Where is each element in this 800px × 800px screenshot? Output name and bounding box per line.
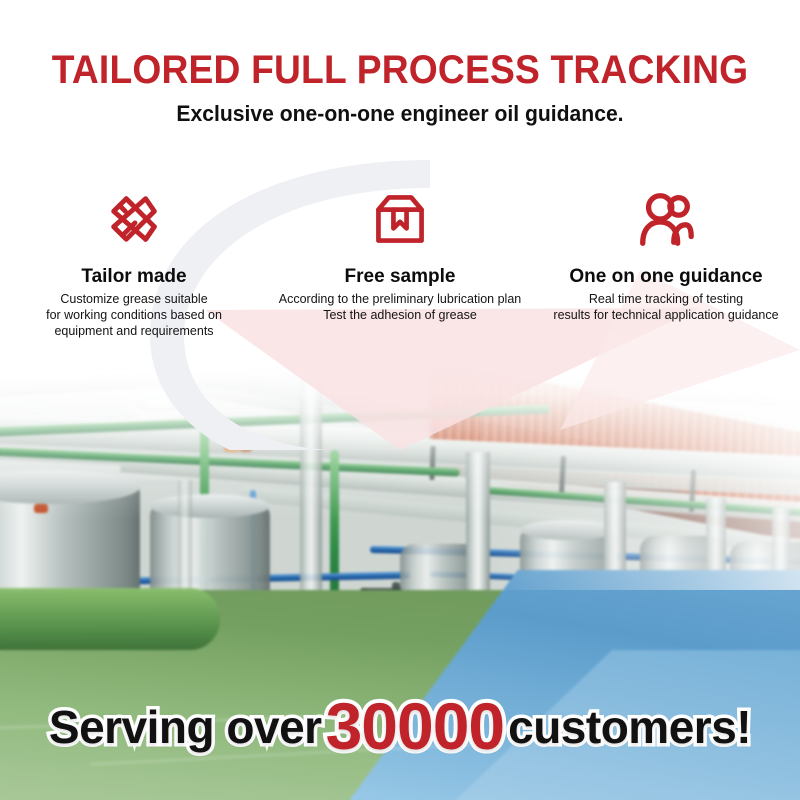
customer-count-banner: Serving over30000customers! xyxy=(0,682,800,758)
feature-desc-line: Real time tracking of testing xyxy=(535,291,797,307)
header: TAILORED FULL PROCESS TRACKING Exclusive… xyxy=(0,0,800,127)
banner-suffix: customers! xyxy=(508,701,751,753)
feature-list: Tailor made Customize grease suitable fo… xyxy=(0,183,800,339)
page-title: TAILORED FULL PROCESS TRACKING xyxy=(28,0,772,93)
feature-title: Free sample xyxy=(269,267,531,288)
feature-desc-line: Test the adhesion of grease xyxy=(269,307,531,323)
package-box-icon xyxy=(269,183,531,255)
feature-desc-line: equipment and requirements xyxy=(3,323,265,339)
promo-banner-page: TAILORED FULL PROCESS TRACKING Exclusive… xyxy=(0,0,800,800)
ruler-pencil-icon xyxy=(3,183,265,255)
feature-desc-line: for working conditions based on xyxy=(3,307,265,323)
feature-title: One on one guidance xyxy=(535,267,797,288)
feature-one-on-one-guidance[interactable]: One on one guidance Real time tracking o… xyxy=(533,183,799,323)
feature-desc-line: According to the preliminary lubrication… xyxy=(269,291,531,307)
feature-tailor-made[interactable]: Tailor made Customize grease suitable fo… xyxy=(1,183,267,339)
banner-prefix: Serving over xyxy=(49,701,322,753)
two-people-icon xyxy=(535,183,797,255)
feature-title: Tailor made xyxy=(3,267,265,288)
feature-desc-line: results for technical application guidan… xyxy=(535,307,797,323)
feature-free-sample[interactable]: Free sample According to the preliminary… xyxy=(267,183,533,323)
feature-description: Real time tracking of testing results fo… xyxy=(535,291,797,323)
banner-customer-count: 30000 xyxy=(326,689,505,763)
feature-desc-line: Customize grease suitable xyxy=(3,291,265,307)
feature-description: Customize grease suitable for working co… xyxy=(3,291,265,339)
page-subtitle: Exclusive one-on-one engineer oil guidan… xyxy=(16,101,784,127)
feature-description: According to the preliminary lubrication… xyxy=(269,291,531,323)
